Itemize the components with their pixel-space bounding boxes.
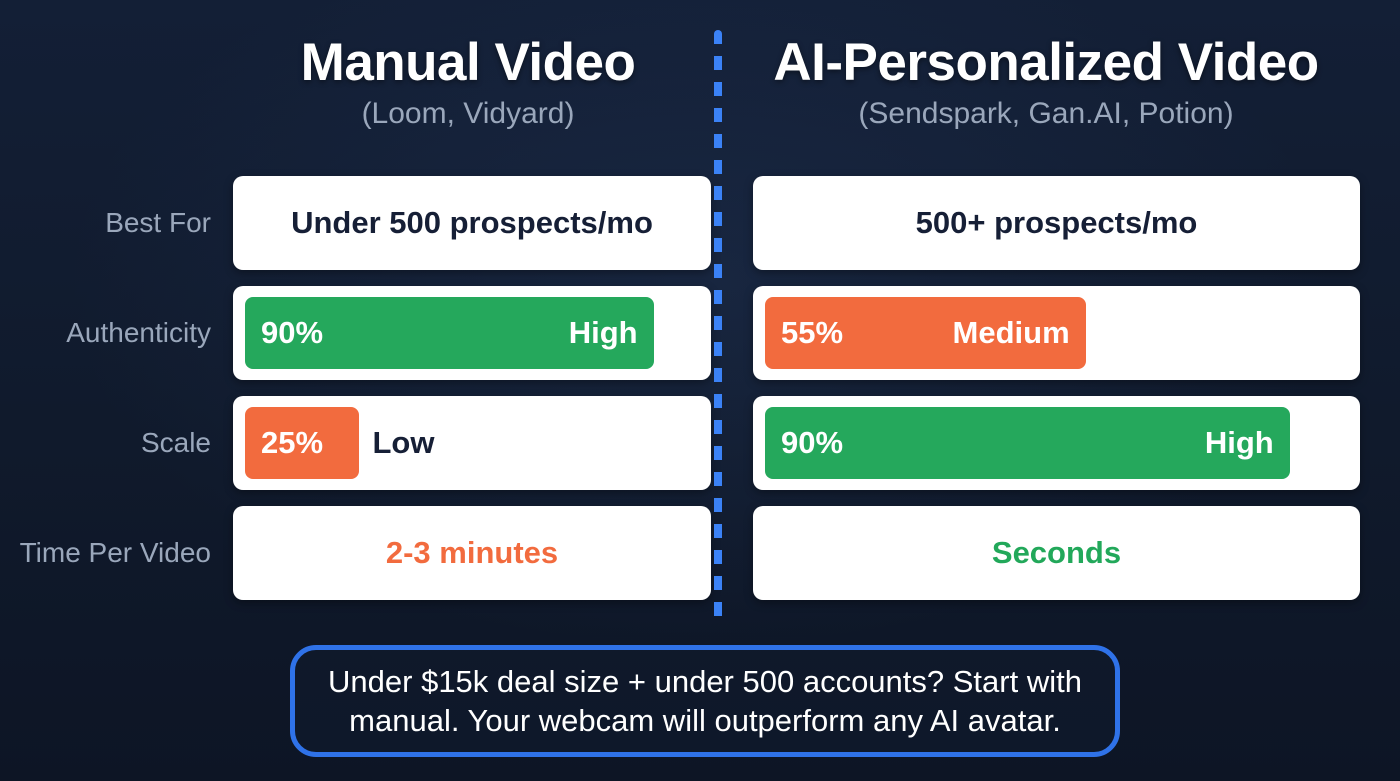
comparison-rows: Best For Under 500 prospects/mo 500+ pro… [0, 176, 1400, 616]
table-row: Scale 25% Low 90% High [0, 396, 1400, 490]
column-title-manual: Manual Video [222, 34, 714, 91]
recommendation-callout: Under $15k deal size + under 500 account… [290, 645, 1120, 757]
progress-rating-label: High [1205, 425, 1274, 461]
recommendation-text: Under $15k deal size + under 500 account… [321, 662, 1089, 740]
progress-rating-label: Low [373, 425, 435, 461]
column-header-manual: Manual Video (Loom, Vidyard) [0, 34, 714, 154]
cell-ai-time-per-video: Seconds [753, 506, 1360, 600]
cell-value: Under 500 prospects/mo [233, 205, 711, 241]
cell-manual-time-per-video: 2-3 minutes [233, 506, 711, 600]
progress-bar: 90% High [245, 297, 654, 369]
cell-manual-authenticity: 90% High [233, 286, 711, 380]
column-divider-dashed [714, 30, 722, 627]
table-row: Best For Under 500 prospects/mo 500+ pro… [0, 176, 1400, 270]
cell-value: 2-3 minutes [233, 535, 711, 571]
progress-track: 25% Low [233, 396, 711, 490]
progress-rating-label: Medium [953, 315, 1070, 351]
cell-ai-best-for: 500+ prospects/mo [753, 176, 1360, 270]
row-label-authenticity: Authenticity [0, 286, 215, 380]
column-headers: Manual Video (Loom, Vidyard) AI-Personal… [0, 34, 1400, 154]
row-label-scale: Scale [0, 396, 215, 490]
progress-percent-label: 90% [261, 315, 323, 351]
cell-value: Seconds [753, 535, 1360, 571]
progress-track: 90% High [233, 286, 711, 380]
cell-manual-best-for: Under 500 prospects/mo [233, 176, 711, 270]
cell-ai-scale: 90% High [753, 396, 1360, 490]
progress-bar: 55% Medium [765, 297, 1086, 369]
table-row: Time Per Video 2-3 minutes Seconds [0, 506, 1400, 600]
cell-manual-scale: 25% Low [233, 396, 711, 490]
column-title-ai: AI-Personalized Video [714, 34, 1378, 91]
column-header-ai: AI-Personalized Video (Sendspark, Gan.AI… [714, 34, 1400, 154]
progress-rating-label: High [569, 315, 638, 351]
column-subtitle-ai: (Sendspark, Gan.AI, Potion) [714, 97, 1378, 130]
row-label-time-per-video: Time Per Video [0, 506, 215, 600]
comparison-infographic: Manual Video (Loom, Vidyard) AI-Personal… [0, 0, 1400, 781]
cell-ai-authenticity: 55% Medium [753, 286, 1360, 380]
cell-value: 500+ prospects/mo [753, 205, 1360, 241]
progress-percent-label: 90% [781, 425, 843, 461]
row-label-best-for: Best For [0, 176, 215, 270]
progress-percent-label: 25% [261, 425, 323, 461]
progress-percent-label: 55% [781, 315, 843, 351]
progress-track: 55% Medium [753, 286, 1360, 380]
column-subtitle-manual: (Loom, Vidyard) [222, 97, 714, 130]
progress-bar: 90% High [765, 407, 1290, 479]
table-row: Authenticity 90% High 55% Medium [0, 286, 1400, 380]
progress-bar: 25% [245, 407, 359, 479]
progress-track: 90% High [753, 396, 1360, 490]
